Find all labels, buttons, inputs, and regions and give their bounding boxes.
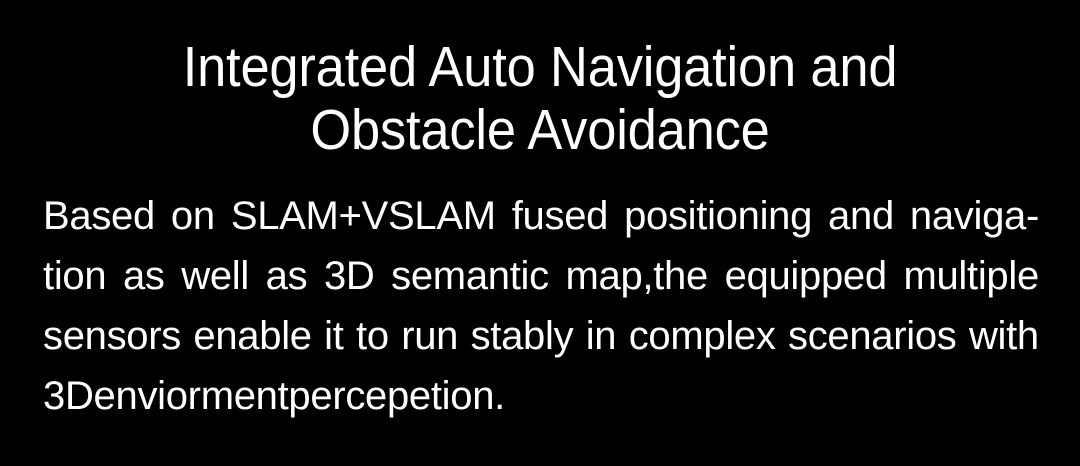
body-word: to: [356, 306, 389, 366]
body-word: 3D: [324, 246, 375, 306]
slide-body-paragraph: BasedonSLAM+VSLAMfusedpositioningandnavi…: [43, 186, 1039, 426]
body-word: semantic: [391, 246, 549, 306]
body-word: as: [266, 246, 308, 306]
body-word: sensors: [43, 306, 181, 366]
body-word: percepetion.: [288, 366, 505, 426]
body-word: in: [586, 306, 617, 366]
body-word: on: [171, 186, 215, 246]
body-word: it: [324, 306, 343, 366]
body-line-3: sensorsenableittorunstablyincomplexscena…: [43, 306, 1039, 366]
body-word: fused: [512, 186, 608, 246]
body-word: with: [969, 306, 1039, 366]
body-word: well: [181, 246, 249, 306]
slide-title: Integrated Auto Navigation and Obstacle …: [0, 36, 1080, 162]
body-word: tion: [43, 246, 106, 306]
body-word: stably: [471, 306, 574, 366]
body-word: Based: [43, 186, 155, 246]
title-line-1: Integrated Auto Navigation and: [43, 36, 1037, 99]
body-word: complex: [629, 306, 776, 366]
title-line-2: Obstacle Avoidance: [43, 99, 1037, 162]
presentation-slide: Integrated Auto Navigation and Obstacle …: [0, 0, 1080, 466]
body-line-2: tionaswellas3Dsemanticmap,theequippedmul…: [43, 246, 1039, 306]
body-word: multiple: [903, 246, 1038, 306]
body-word: as: [123, 246, 165, 306]
body-word: naviga-: [910, 186, 1039, 246]
body-word: map,the: [565, 246, 707, 306]
body-word: 3D: [43, 366, 94, 426]
body-line-1: BasedonSLAM+VSLAMfusedpositioningandnavi…: [43, 186, 1039, 246]
body-word: and: [828, 186, 894, 246]
body-word: enable: [193, 306, 311, 366]
body-word: enviorment: [94, 366, 289, 426]
body-word: equipped: [725, 246, 887, 306]
body-word: SLAM+VSLAM: [231, 186, 496, 246]
body-word: run: [401, 306, 458, 366]
body-line-4: 3D enviorment percepetion.: [43, 366, 1039, 426]
body-word: positioning: [624, 186, 812, 246]
body-word: scenarios: [788, 306, 957, 366]
